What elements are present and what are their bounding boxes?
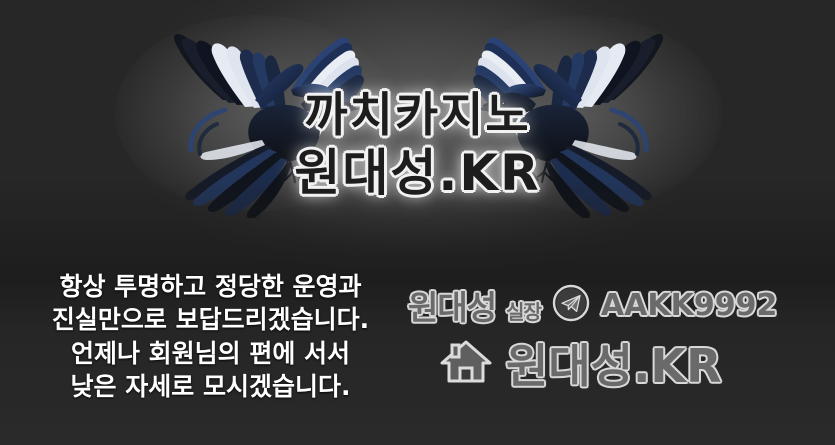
telegram-icon[interactable] — [551, 283, 591, 328]
slogan-line-3: 언제나 회원님의 편에 서서 — [18, 337, 403, 370]
slogan-line-2: 진실만으로 보답드리겠습니다. — [18, 303, 403, 336]
manager-name: 원대성 — [408, 281, 496, 329]
contact-block: 원대성 실장 AAKK9992 — [408, 282, 828, 394]
slogan-line-4: 낮은 자세로 모시겠습니다. — [18, 370, 403, 403]
brand-title-line1: 까치카지노 — [0, 92, 835, 139]
home-icon[interactable] — [438, 335, 494, 392]
brand-title: 까치카지노 원대성.KR — [0, 92, 835, 198]
hero-section: 까치카지노 원대성.KR — [0, 0, 835, 232]
bottom-section: 항상 투명하고 정당한 운영과 진실만으로 보답드리겠습니다. 언제나 회원님의… — [0, 232, 835, 445]
slogan-block: 항상 투명하고 정당한 운영과 진실만으로 보답드리겠습니다. 언제나 회원님의… — [18, 270, 403, 403]
casino-promo-banner: 까치카지노 원대성.KR 항상 투명하고 정당한 운영과 진실만으로 보답드리겠… — [0, 0, 835, 445]
telegram-id[interactable]: AAKK9992 — [601, 288, 777, 323]
slogan-line-1: 항상 투명하고 정당한 운영과 — [18, 270, 403, 303]
brand-title-line2: 원대성.KR — [0, 148, 835, 198]
manager-contact-row: 원대성 실장 AAKK9992 — [408, 282, 828, 328]
manager-role: 실장 — [506, 296, 541, 325]
site-row: 원대성.KR — [408, 332, 828, 394]
site-name[interactable]: 원대성.KR — [506, 330, 722, 396]
